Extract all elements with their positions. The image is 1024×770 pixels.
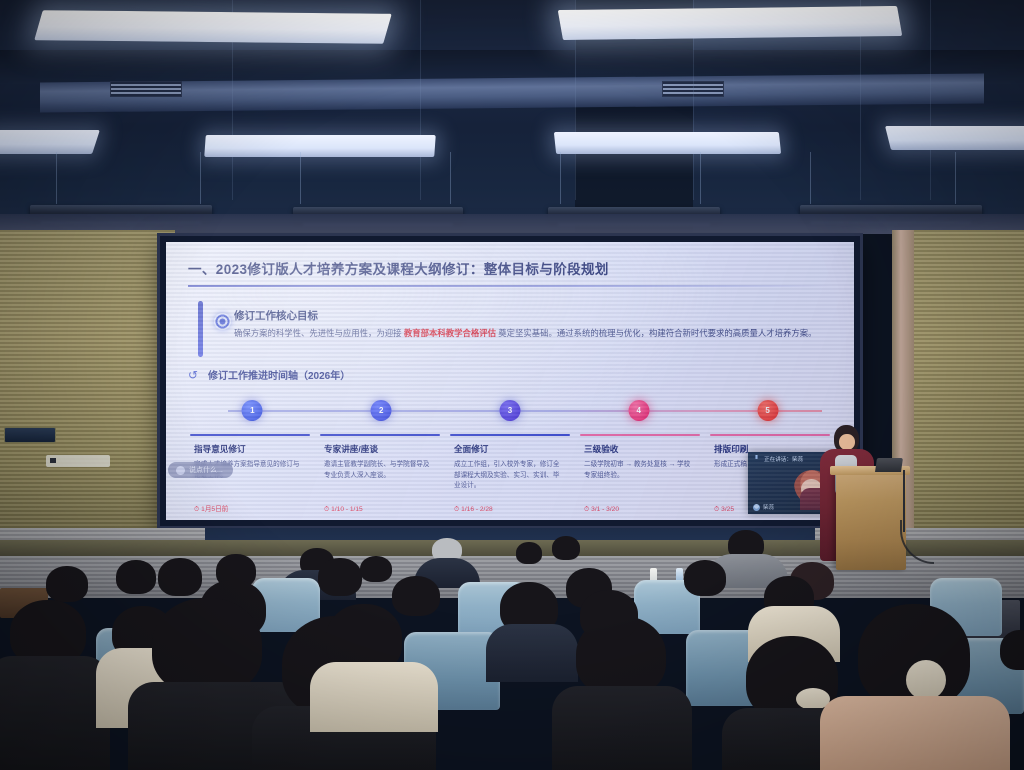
ceiling-seam-2 xyxy=(420,0,421,200)
timeline-card-date-text: 1月5日前 xyxy=(201,506,228,513)
audience-head xyxy=(318,558,362,596)
timeline-card-title: 全面修订 xyxy=(454,443,566,455)
timeline-header-label: 修订工作推进时间轴（2026年） xyxy=(208,367,350,382)
fixture-wire-4 xyxy=(450,152,451,204)
clock-icon: ⏱ xyxy=(324,506,329,513)
audience-head xyxy=(684,560,726,596)
fixture-wire-2 xyxy=(200,152,201,204)
acoustic-wall-right xyxy=(914,230,1024,560)
audience-head xyxy=(552,536,580,560)
audience-shoulder xyxy=(820,696,1010,770)
timeline-card-date-text: 1/10 - 1/15 xyxy=(331,506,363,513)
acoustic-wall-left xyxy=(0,230,175,540)
timeline-card-3: 全面修订 成立工作组，引入校外专家，修订全部课程大纲及实验、实习、实训、毕业设计… xyxy=(448,434,572,518)
ceiling-seam-6 xyxy=(930,0,931,200)
audience-shoulder xyxy=(486,624,578,682)
clock-icon: ⏱ xyxy=(454,506,459,513)
history-clock-icon: ↺ xyxy=(188,369,200,381)
audience-head xyxy=(1000,630,1024,670)
fixture-wire-3 xyxy=(300,152,301,204)
goal-body-part2: 奠定坚实基础。通过系统的梳理与优化，构建符合新时代要求的高质量人才培养方案。 xyxy=(496,328,817,338)
timeline-node-2[interactable]: 2 xyxy=(371,400,392,421)
timeline-card-4: 三级验收 二级学院初审 → 教务处复核 → 学校专家组终验。 ⏱3/1 - 3/… xyxy=(578,434,702,518)
timeline-node-1[interactable]: 1 xyxy=(242,400,263,421)
title-underline xyxy=(188,285,832,287)
fixture-wire-7 xyxy=(810,152,811,204)
goal-highlight: 教育部本科教学合格评估 xyxy=(404,328,496,338)
pip-participant-name: 柴蕊 xyxy=(763,503,774,511)
clock-icon: ⏱ xyxy=(714,506,719,513)
presentation-slide: 一、2023修订版人才培养方案及课程大纲修订：整体目标与阶段规划 修订工作核心目… xyxy=(166,242,854,520)
timeline-card-title: 三级验收 xyxy=(584,443,696,455)
ceiling xyxy=(0,0,1024,232)
audience-head xyxy=(580,590,638,640)
goal-body: 确保方案的科学性、先进性与应用性，为迎接 教育部本科教学合格评估 奠定坚实基础。… xyxy=(234,327,826,340)
timeline-card-date: ⏱3/1 - 3/20 xyxy=(584,506,619,514)
pip-name-row: 柴蕊 xyxy=(753,503,774,511)
lecture-hall-scene: 一、2023修订版人才培养方案及课程大纲修订：整体目标与阶段规划 修订工作核心目… xyxy=(0,0,1024,770)
user-avatar-icon xyxy=(753,504,760,511)
audience-head xyxy=(392,576,440,616)
clock-icon: ⏱ xyxy=(584,506,589,513)
wall-switch-plate xyxy=(46,455,110,467)
audience-shoulder xyxy=(310,662,438,732)
timeline-card-date-text: 3/25 xyxy=(721,506,734,513)
timeline: 1 2 3 4 5 指导意见修订 完成人才培养方案指导意见的修订与论证工作。 ⏱… xyxy=(188,400,832,520)
audience-shoulder xyxy=(0,656,110,770)
timeline-card-row: 指导意见修订 完成人才培养方案指导意见的修订与论证工作。 ⏱1月5日前 专家讲座… xyxy=(188,434,832,518)
goal-body-part1: 确保方案的科学性、先进性与应用性，为迎接 xyxy=(234,328,404,338)
timeline-card-date-text: 3/1 - 3/20 xyxy=(591,506,619,513)
audience xyxy=(0,520,1024,770)
fixture-wire-6 xyxy=(700,152,701,204)
audience-head xyxy=(158,558,202,596)
timeline-header: ↺ 修订工作推进时间轴（2026年） xyxy=(188,367,832,382)
audience-head xyxy=(152,598,262,694)
chat-placeholder: 说点什么... xyxy=(189,465,223,475)
fixture-wire-1 xyxy=(56,152,57,204)
audience-shoulder xyxy=(552,686,692,770)
core-goal-box: 修订工作核心目标 确保方案的科学性、先进性与应用性，为迎接 教育部本科教学合格评… xyxy=(188,301,832,353)
timeline-card-desc: 邀请主管教学副院长、与学院督导及专业负责人深入座谈。 xyxy=(324,460,436,481)
timeline-card-date-text: 1/16 - 2/28 xyxy=(461,506,493,513)
fixture-wire-5 xyxy=(560,152,561,204)
timeline-node-3[interactable]: 3 xyxy=(499,400,520,421)
chat-icon xyxy=(176,466,185,475)
timeline-card-desc: 二级学院初审 → 教务处复核 → 学校专家组终验。 xyxy=(584,460,696,481)
chat-input-pill[interactable]: 说点什么... xyxy=(168,462,233,478)
presenter-face xyxy=(839,434,855,450)
microphone-icon xyxy=(753,455,760,462)
goal-accent-bar xyxy=(198,301,203,357)
audience-head xyxy=(116,560,156,594)
slide-title: 一、2023修订版人才培养方案及课程大纲修订：整体目标与阶段规划 xyxy=(188,258,832,278)
timeline-card-title: 专家讲座/座谈 xyxy=(324,443,436,455)
wall-air-vent xyxy=(4,427,56,443)
timeline-card-date: ⏱1月5日前 xyxy=(194,503,228,514)
ceiling-light-panel-5 xyxy=(554,132,781,154)
audience-head xyxy=(360,556,392,582)
target-icon xyxy=(214,313,231,330)
clock-icon: ⏱ xyxy=(194,506,199,513)
podium-laptop xyxy=(875,458,903,472)
ceiling-light-panel-2 xyxy=(558,6,903,40)
audience-head xyxy=(46,566,88,602)
audience-head xyxy=(516,542,542,564)
goal-heading: 修订工作核心目标 xyxy=(234,308,826,323)
ceiling-light-panel-6 xyxy=(885,126,1024,150)
ceiling-light-panel-1 xyxy=(34,10,392,44)
timeline-card-desc: 成立工作组，引入校外专家，修订全部课程大纲及实验、实习、实训、毕业设计。 xyxy=(454,460,566,492)
ceiling-vent-left xyxy=(110,81,182,97)
ceiling-light-panel-4 xyxy=(204,135,436,157)
timeline-card-title: 指导意见修订 xyxy=(194,443,306,455)
pip-speaking-label: 正在讲话：柴蕊 xyxy=(764,455,803,463)
timeline-card-date: ⏱3/25 xyxy=(714,506,734,514)
ceiling-light-panel-3 xyxy=(0,130,100,154)
timeline-node-5[interactable]: 5 xyxy=(757,400,778,421)
fixture-wire-8 xyxy=(955,152,956,204)
hair-tie xyxy=(906,660,946,700)
timeline-card-date: ⏱1/16 - 2/28 xyxy=(454,506,493,514)
timeline-axis xyxy=(228,410,822,412)
timeline-card-date: ⏱1/10 - 1/15 xyxy=(324,506,363,514)
timeline-node-4[interactable]: 4 xyxy=(628,400,649,421)
projection-screen: 一、2023修订版人才培养方案及课程大纲修订：整体目标与阶段规划 修订工作核心目… xyxy=(160,236,860,526)
timeline-card-2: 专家讲座/座谈 邀请主管教学副院长、与学院督导及专业负责人深入座谈。 ⏱1/10… xyxy=(318,434,442,518)
